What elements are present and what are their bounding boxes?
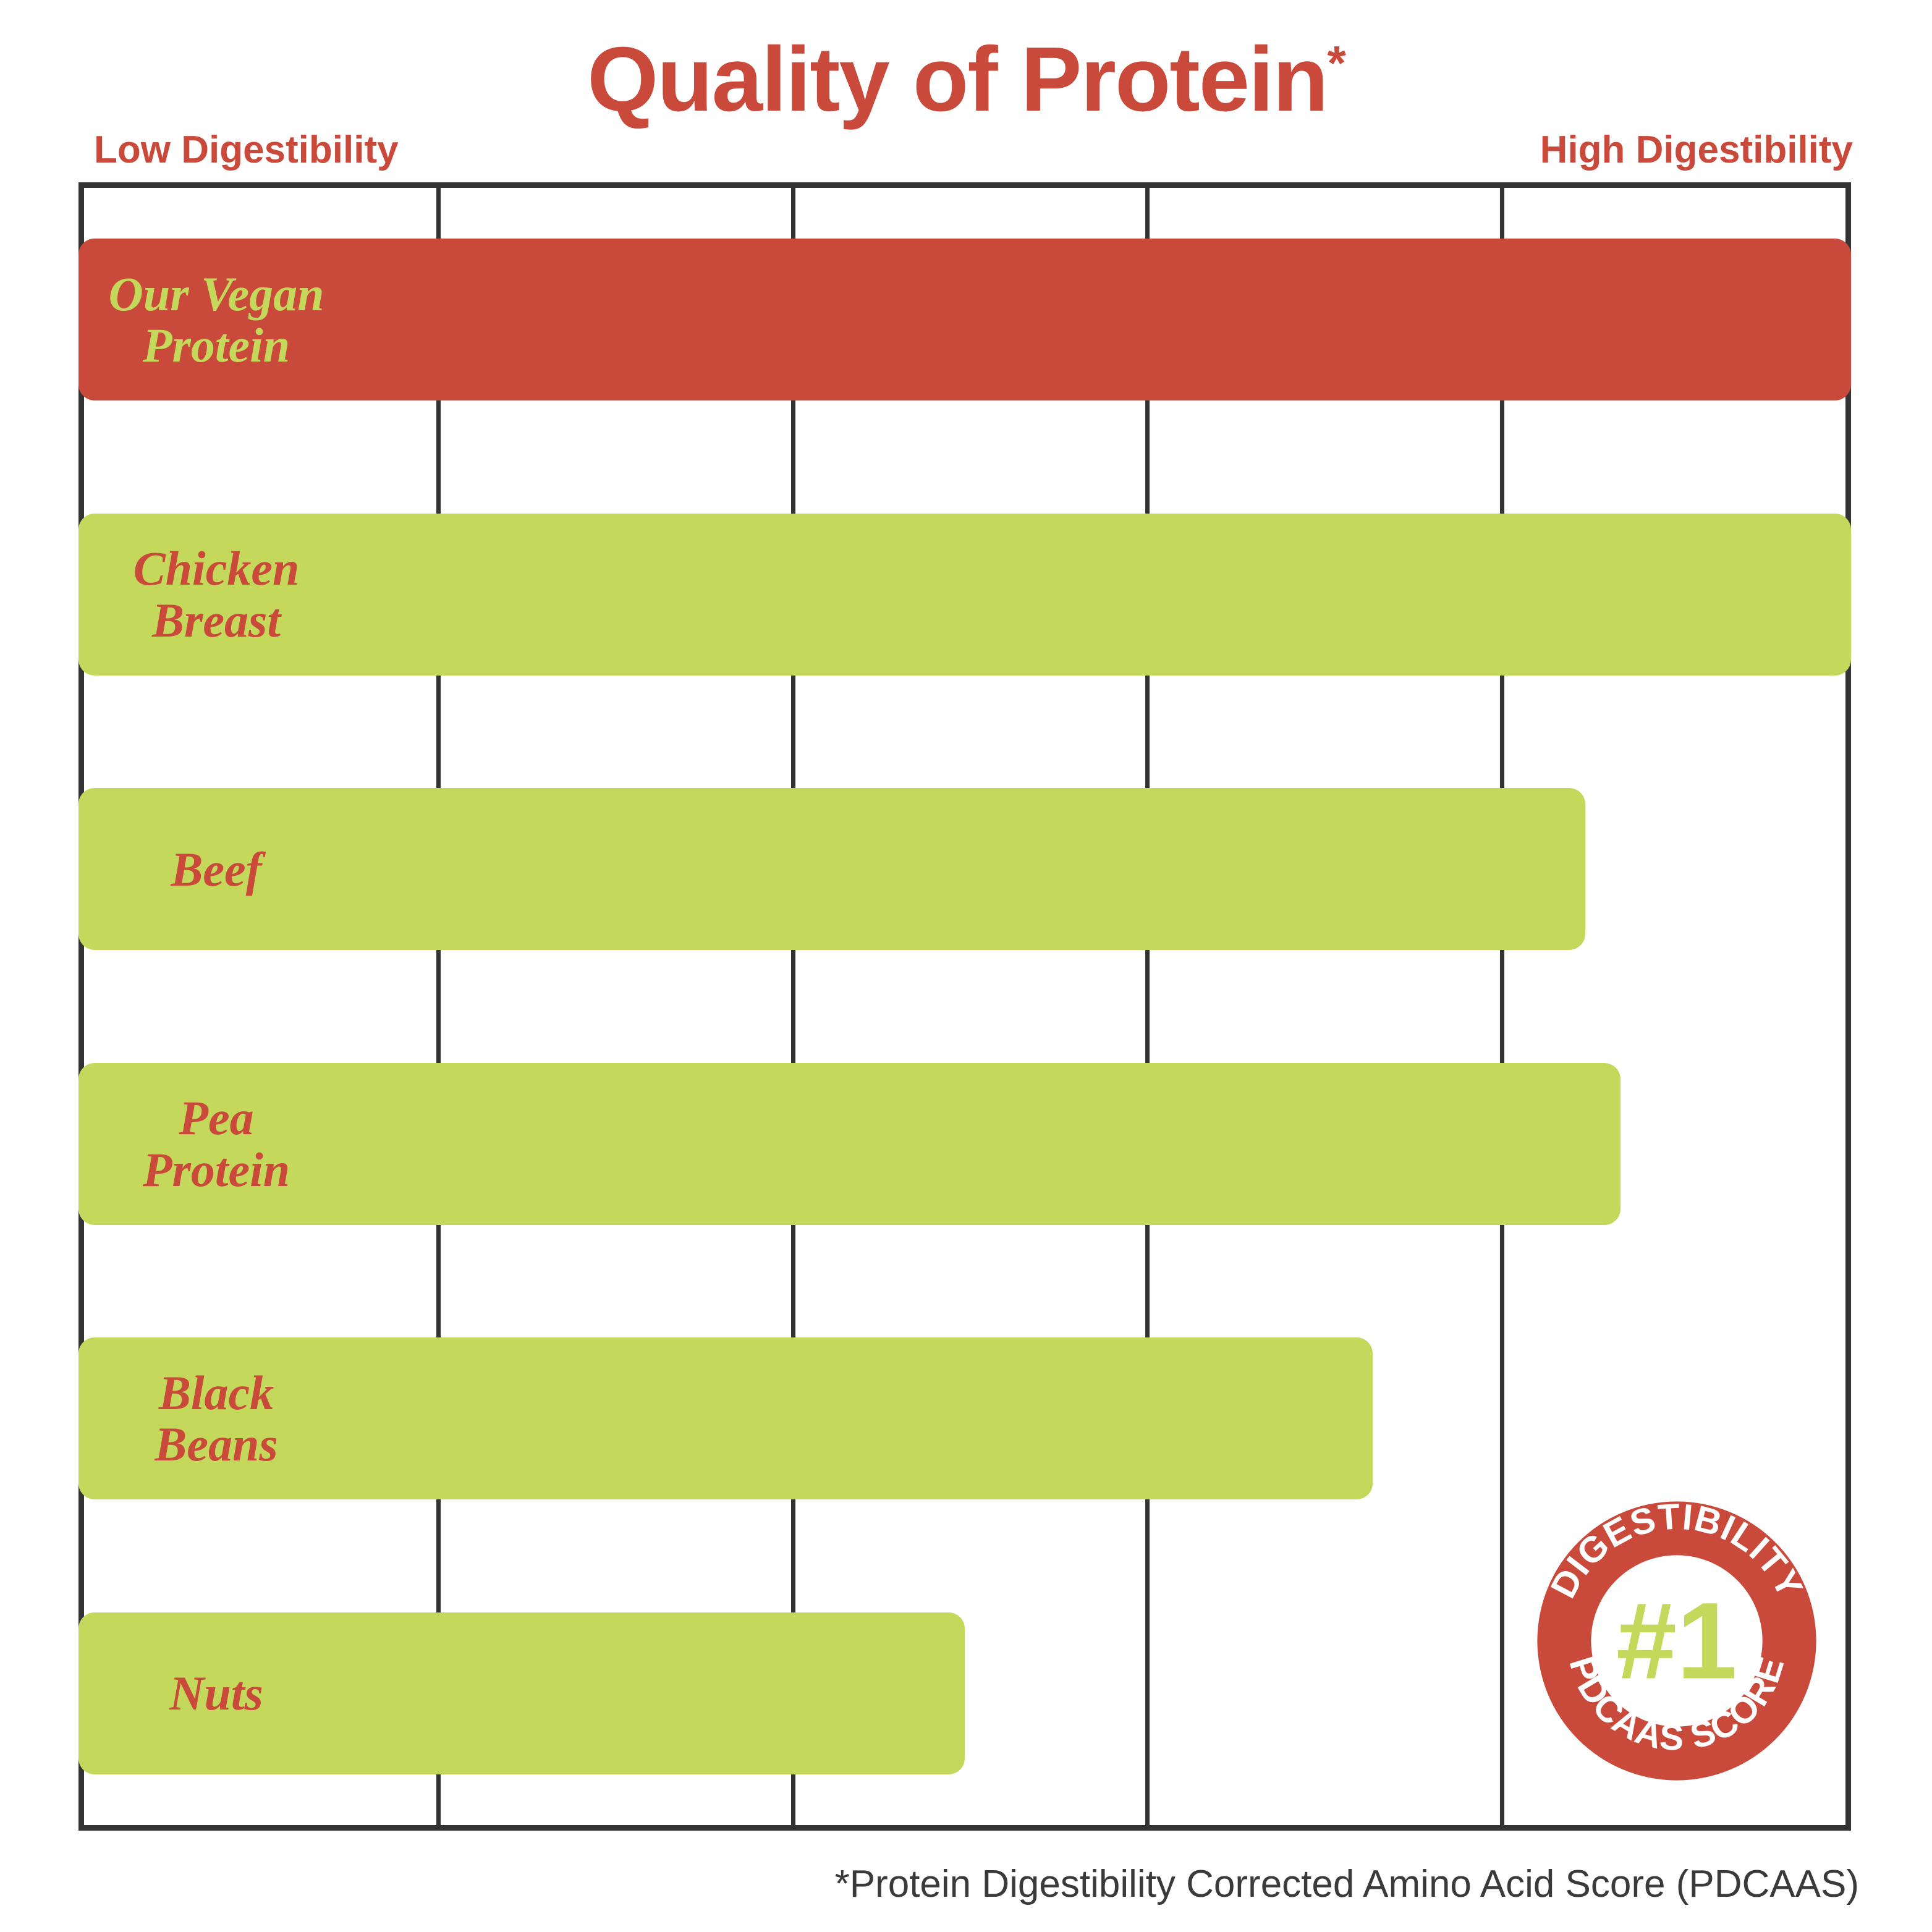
bar-label: Chicken Breast <box>83 543 349 646</box>
bar-label: Pea Protein <box>83 1092 349 1195</box>
bar-our-vegan-protein: Our Vegan Protein <box>78 239 1851 400</box>
axis-label-high-digestibility: High Digestibility <box>1540 131 1853 169</box>
bar-chicken-breast: Chicken Breast <box>78 514 1851 676</box>
bar-label: Nuts <box>83 1667 349 1719</box>
bar-label: Beef <box>83 844 349 895</box>
axis-label-low-digestibility: Low Digestibility <box>94 131 399 169</box>
digestibility-badge-icon: DIGESTIBILITY PDCAAS SCORE #1 <box>1532 1496 1822 1786</box>
bar-black-beans: Black Beans <box>78 1337 1373 1499</box>
title-footnote-marker: * <box>1328 36 1345 90</box>
page-title: Quality of Protein* <box>0 34 1932 125</box>
title-text: Quality of Protein <box>587 28 1327 130</box>
bar-nuts: Nuts <box>78 1612 965 1774</box>
footnote: *Protein Digestibility Corrected Amino A… <box>835 1865 1859 1904</box>
badge-center-rank: #1 <box>1616 1580 1737 1702</box>
bar-label: Black Beans <box>83 1367 349 1470</box>
bar-beef: Beef <box>78 788 1585 950</box>
bar-pea-protein: Pea Protein <box>78 1063 1621 1225</box>
bar-label: Our Vegan Protein <box>83 268 349 371</box>
chart-page: Quality of Protein* Low Digestibility Hi… <box>0 0 1932 1932</box>
